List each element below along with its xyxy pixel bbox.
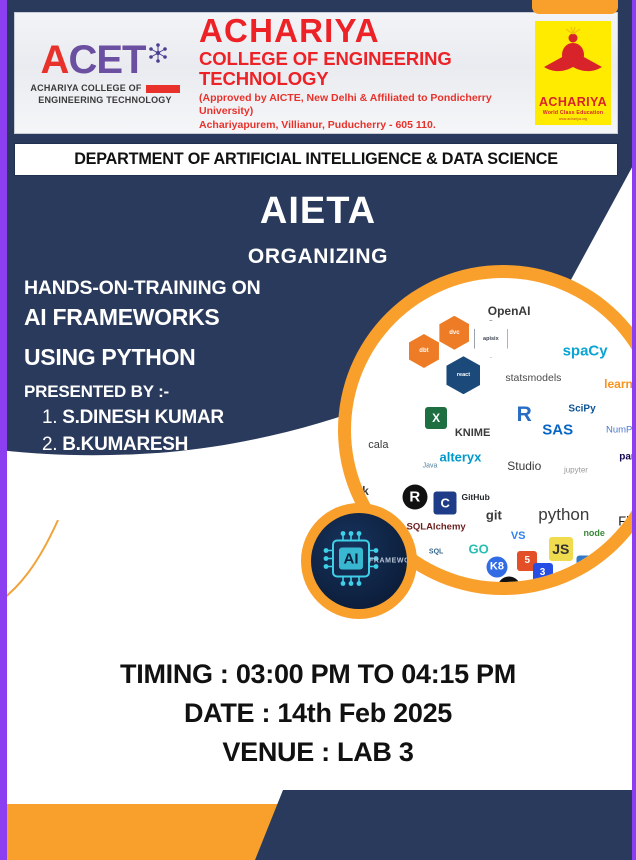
tool-logo-label: dbt [409,334,439,368]
tool-logo-nodejs: node [583,528,605,538]
network-nodes-icon [147,42,169,69]
tool-logo-go: GO [469,541,489,556]
acet-red-bar [146,85,180,93]
meditating-figure-icon [542,27,604,90]
tool-logo-alteryx: alteryx [439,450,481,465]
tool-logo-label: python [538,505,589,525]
tool-logo-label: node [583,528,605,538]
acet-logo: A CET [21,40,189,106]
presenter-name: S.SREEPADH KRISHNAN [62,461,284,483]
tool-logo-apisix: apisix [474,320,508,358]
ai-badge-inner: AI FRAMEWORK [311,513,407,609]
tool-logo-java: Java [423,463,438,470]
presenter-number: 2. [42,434,57,456]
tool-logo-svelte: S [547,574,569,582]
tool-logo-openai: OpenAI [488,304,531,318]
tool-logo-label: git [486,508,502,523]
college-name: ACHARIYA [199,14,529,48]
presented-by-label: PRESENTED BY :- [24,382,354,402]
tool-logo-label: SciPy [568,403,595,414]
tool-logo-kubernetes: K8 [486,556,507,577]
tool-logo-label: R [402,484,427,509]
presenter-list: 1.S.DINESH KUMAR2.B.KUMARESH3.S.SREEPADH… [24,407,354,483]
venue-line: VENUE : LAB 3 [0,733,636,772]
tool-logo-label: JS [549,537,573,561]
acet-wordmark: A CET [41,40,170,80]
college-address: Achariyapurem, Villianur, Puducherry - 6… [199,119,529,132]
top-orange-tab [532,0,618,14]
tool-logo-jupyter: jupyter [564,465,588,474]
schedule-info: TIMING : 03:00 PM TO 04:15 PM DATE : 14t… [0,655,636,772]
ai-framework-badge: AI FRAMEWORK [301,503,417,619]
tool-logo-label: VS [511,530,526,542]
college-name-block: ACHARIYA COLLEGE OF ENGINEERING TECHNOLO… [189,14,535,132]
college-header-card: A CET [14,12,618,134]
right-edge-strip [632,0,636,860]
tool-logo-scikit-learn: learn [604,377,633,391]
tool-logo-label: spaCy [563,342,608,359]
presenter-name: S.DINESH KUMAR [62,407,224,429]
tool-logo-label: KNIME [455,427,490,439]
tool-logo-label: TS [577,555,600,578]
tool-logo-label: Java [423,463,438,470]
tool-logo-python: python [538,505,589,525]
tool-logo-javascript: JS [549,537,573,561]
tool-logo-label: cala [368,439,388,451]
tool-logo-label: dvc [439,316,469,350]
tool-logo-label: learn [604,377,633,391]
tool-logo-sas: SAS [542,422,573,439]
tool-logo-dvc: dvc [439,316,469,350]
tool-logo-csharp: C [434,491,457,514]
department-banner: DEPARTMENT OF ARTIFICIAL INTELLIGENCE & … [14,143,618,176]
tool-logo-label: SAS [542,422,573,439]
tool-logo-postgresql: SQL [429,548,443,555]
acet-letter-a: A [41,40,69,80]
ai-framework-text: FRAMEWORK [369,558,407,565]
timing-line: TIMING : 03:00 PM TO 04:15 PM [0,655,636,694]
acet-letters-cet: CET [68,40,145,80]
tool-logo-label: alteryx [439,450,481,465]
achariya-badge-name: ACHARIYA [539,95,607,109]
presenter-number: 3. [42,461,57,483]
college-subtitle: COLLEGE OF ENGINEERING TECHNOLOGY [199,49,529,90]
tool-logo-label: A [498,577,521,582]
tool-logo-label: OpenAI [488,304,531,318]
tool-logo-react: react [446,356,480,394]
achariya-badge-url: www.achariya.org [559,117,587,121]
tool-logo-github: GitHub [461,492,489,502]
tool-logo-label: V [586,577,596,582]
tool-logo-statsmodels: statsmodels [505,372,561,384]
organizing-label: ORGANIZING [0,245,636,269]
tool-logo-label: rk [357,484,368,498]
presenter-item: 3.S.SREEPADH KRISHNAN [24,461,354,483]
presenter-name: B.KUMARESH [62,434,188,456]
bottom-navy-shape [255,790,636,860]
tool-logo-label: apisix [474,320,508,358]
acet-sub-line1: ACHARIYA COLLEGE OF [30,83,141,94]
department-banner-text: DEPARTMENT OF ARTIFICIAL INTELLIGENCE & … [74,150,558,169]
tool-logo-label: GitHub [461,492,489,502]
event-details-block: HANDS-ON-TRAINING ON AI FRAMEWORKS USING… [24,276,354,483]
tool-logo-label: K8 [486,556,507,577]
presenter-item: 1.S.DINESH KUMAR [24,407,354,429]
tool-logo-r: R [517,403,532,427]
tool-logo-label: C [434,491,457,514]
tool-logo-spacy: spaCy [563,342,608,359]
tool-logo-label: GO [469,541,489,556]
acet-sub-line2: ENGINEERING TECHNOLOGY [30,95,179,106]
acet-sublabel: ACHARIYA COLLEGE OF ENGINEERING TECHNOLO… [30,83,179,106]
tool-logo-label: R [517,403,532,427]
achariya-badge: ACHARIYA World Class Education www.achar… [535,21,611,125]
club-name-title: AIETA [0,190,636,233]
event-headline: HANDS-ON-TRAINING ON [24,276,354,300]
date-line: DATE : 14th Feb 2025 [0,694,636,733]
svg-text:AI: AI [344,551,359,568]
tool-logo-dbt: dbt [409,334,439,368]
tool-logo-rstudio: Studio [507,459,541,473]
tool-logo-scipy: SciPy [568,403,595,414]
poster-root: dbtdvcapisixreactOpenAIspaCystatsmodelsl… [0,0,636,860]
tool-logo-rstudio-r: R [402,484,427,509]
presenter-number: 1. [42,407,57,429]
bottom-orange-band [0,804,290,860]
tool-logo-ansible: A [498,577,521,582]
achariya-badge-tagline: World Class Education [543,110,604,116]
tool-logo-vscode: VS [511,530,526,542]
tool-logo-vue: V [586,577,596,582]
tool-logo-label: SQL [429,548,443,555]
tool-logo-typescript: TS [577,555,600,578]
tool-logo-label: SQLAlchemy [407,522,466,533]
college-approval: (Approved by AICTE, New Delhi & Affiliat… [199,92,529,117]
tool-logo-scala: cala [368,439,388,451]
tool-logo-label: react [446,356,480,394]
left-edge-strip [0,0,7,860]
tool-logo-label: X [425,407,447,429]
tool-logo-spark: rk [357,484,368,498]
tool-logo-git: git [486,508,502,523]
presenter-item: 2.B.KUMARESH [24,434,354,456]
tool-logo-label: jupyter [564,465,588,474]
event-using: USING PYTHON [24,343,354,373]
tool-logo-sqlalchemy: SQLAlchemy [407,522,466,533]
tool-logo-label: statsmodels [505,372,561,384]
tool-logo-knime: KNIME [455,427,490,439]
event-topic: AI FRAMEWORKS [24,303,354,333]
tool-logo-label: Studio [507,459,541,473]
tool-logo-excel: X [425,407,447,429]
tool-logo-label: S [547,574,569,582]
